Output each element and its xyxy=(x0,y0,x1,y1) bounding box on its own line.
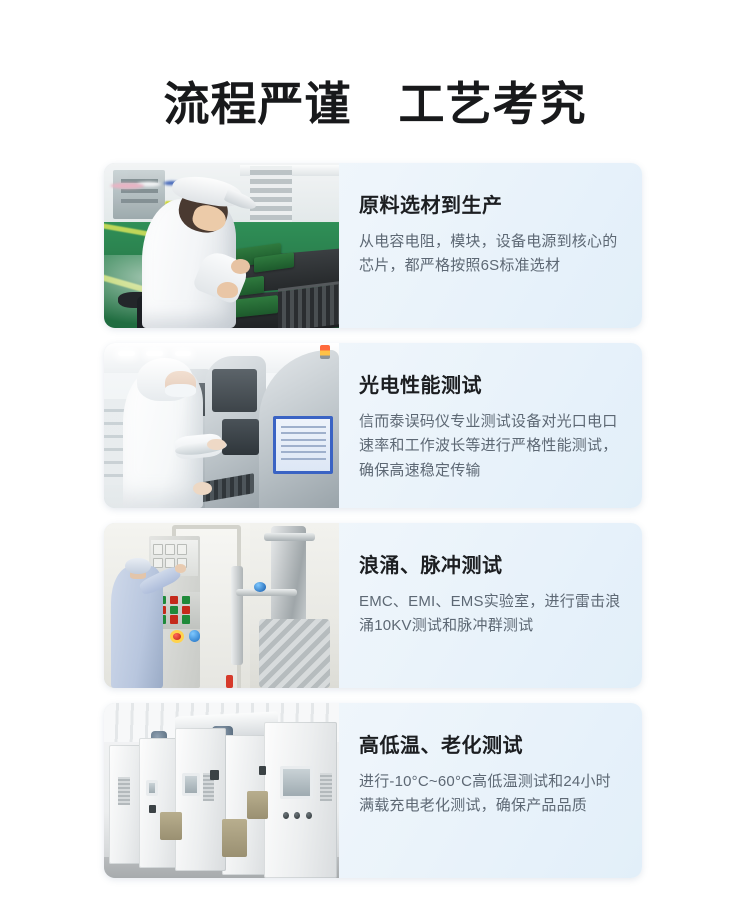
pcb-assembly-line-photo xyxy=(104,163,339,328)
process-card-4-description: 进行-10°C~60°C高低温测试和24小时满载充电老化测试，确保产品品质 xyxy=(359,770,624,819)
process-card-3-body: 浪涌、脉冲测试 EMC、EMI、EMS实验室，进行雷击浪涌10KV测试和脉冲群测… xyxy=(339,523,642,688)
process-card-2-description: 信而泰误码仪专业测试设备对光口电口速率和工作波长等进行严格性能测试，确保高速稳定… xyxy=(359,410,624,483)
process-card-1[interactable]: 原料选材到生产 从电容电阻，模块，设备电源到核心的芯片，都严格按照6S标准选材 xyxy=(104,163,642,328)
process-card-2-body: 光电性能测试 信而泰误码仪专业测试设备对光口电口速率和工作波长等进行严格性能测试… xyxy=(339,343,642,508)
process-card-3-description: EMC、EMI、EMS实验室，进行雷击浪涌10KV测试和脉冲群测试 xyxy=(359,590,624,639)
process-card-2-title: 光电性能测试 xyxy=(359,374,624,398)
process-card-2[interactable]: 光电性能测试 信而泰误码仪专业测试设备对光口电口速率和工作波长等进行严格性能测试… xyxy=(104,343,642,508)
control-panel-surge-test-photo xyxy=(104,523,339,688)
process-card-4-title: 高低温、老化测试 xyxy=(359,734,624,758)
product-process-page: 流程严谨 工艺考究 xyxy=(0,0,750,900)
process-card-1-title: 原料选材到生产 xyxy=(359,194,624,218)
process-card-4[interactable]: 高低温、老化测试 进行-10°C~60°C高低温测试和24小时满载充电老化测试，… xyxy=(104,703,642,878)
process-card-3-title: 浪涌、脉冲测试 xyxy=(359,554,624,578)
process-card-1-description: 从电容电阻，模块，设备电源到核心的芯片，都严格按照6S标准选材 xyxy=(359,230,624,279)
process-card-1-body: 原料选材到生产 从电容电阻，模块，设备电源到核心的芯片，都严格按照6S标准选材 xyxy=(339,163,642,328)
process-card-4-body: 高低温、老化测试 进行-10°C~60°C高低温测试和24小时满载充电老化测试，… xyxy=(339,703,642,878)
cleanroom-optical-test-photo xyxy=(104,343,339,508)
process-card-3[interactable]: 浪涌、脉冲测试 EMC、EMI、EMS实验室，进行雷击浪涌10KV测试和脉冲群测… xyxy=(104,523,642,688)
page-title: 流程严谨 工艺考究 xyxy=(0,77,750,131)
aging-test-chambers-photo xyxy=(104,703,339,878)
process-card-list: 原料选材到生产 从电容电阻，模块，设备电源到核心的芯片，都严格按照6S标准选材 xyxy=(104,163,642,878)
